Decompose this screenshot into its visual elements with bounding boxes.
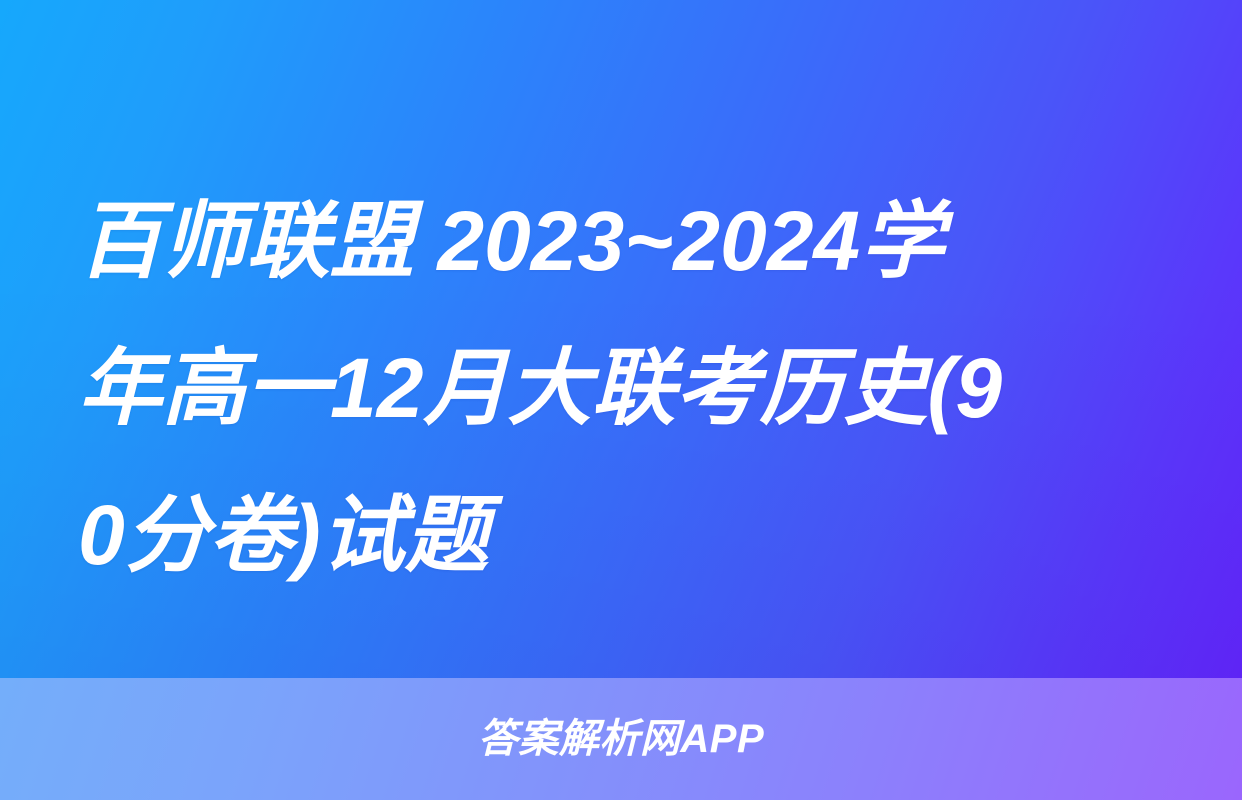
exam-cover-card: 百师联盟 2023~2024学 年高一12月大联考历史(9 0分卷)试题 答案解…: [0, 0, 1242, 800]
footer-brand-band: 答案解析网APP: [0, 678, 1242, 800]
page-title: 百师联盟 2023~2024学 年高一12月大联考历史(9 0分卷)试题: [78, 168, 1188, 609]
title-line-2: 年高一12月大联考历史(9: [78, 315, 1188, 462]
title-line-3: 0分卷)试题: [78, 462, 1188, 609]
title-line-1: 百师联盟 2023~2024学: [78, 168, 1188, 315]
footer-brand-label: 答案解析网APP: [478, 719, 764, 759]
